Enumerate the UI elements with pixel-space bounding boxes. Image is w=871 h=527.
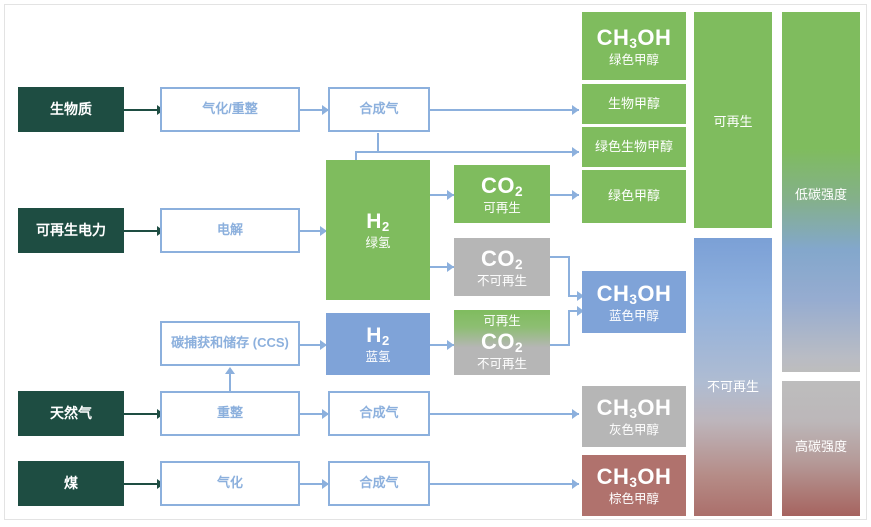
- co2-renewable-sublabel: 可再生: [483, 201, 521, 215]
- legend-high-carbon-bar: 高碳强度: [782, 381, 860, 516]
- legend-renewable-bar: 可再生: [694, 12, 772, 228]
- co2-renewable-block[interactable]: CO2 可再生: [454, 165, 550, 223]
- legend-non-renewable-label: 不可再生: [694, 376, 772, 395]
- syngas-natural-gas[interactable]: 合成气: [328, 391, 430, 436]
- legend-high-carbon-label: 高碳强度: [782, 436, 860, 455]
- connector-power-to-electrolysis: [124, 230, 160, 232]
- blue-methanol-formula: CH3OH: [597, 281, 672, 308]
- green-methanol-top-block[interactable]: CH3OH 绿色甲醇: [582, 12, 686, 80]
- connector-reforming-to-ccs: [229, 372, 231, 392]
- legend-renewable-label: 可再生: [713, 111, 752, 130]
- process-reforming[interactable]: 重整: [160, 391, 300, 436]
- gray-methanol-sublabel: 灰色甲醇: [609, 423, 659, 437]
- legend-low-carbon-label: 低碳强度: [782, 184, 860, 203]
- process-ccs-label: 碳捕获和储存 (CCS): [171, 336, 289, 351]
- brown-methanol-sublabel: 棕色甲醇: [609, 492, 659, 506]
- process-gasification-label: 气化: [217, 476, 243, 491]
- diagram-canvas: 生物质 可再生电力 天然气 煤 气化/重整 电解 碳捕获和储存 (CCS) 重整…: [0, 0, 871, 527]
- green-hydrogen-sublabel: 绿氢: [365, 236, 390, 250]
- arrowhead-co2-nonrenewable: [447, 262, 454, 272]
- co2-mixed-formula: CO2: [481, 329, 523, 356]
- green-methanol-block[interactable]: 绿色甲醇: [582, 170, 686, 223]
- syngas-coal-label: 合成气: [359, 476, 398, 491]
- feedstock-natural-gas-label: 天然气: [50, 405, 92, 421]
- bio-methanol-label: 生物甲醇: [608, 97, 660, 112]
- brown-methanol-formula: CH3OH: [597, 464, 672, 491]
- connector-co2-nonrenew-down: [568, 256, 570, 297]
- legend-non-renewable-bar: 不可再生: [694, 238, 772, 516]
- connector-syngas-to-bio-methanol: [430, 109, 579, 111]
- green-hydrogen-formula: H2: [366, 210, 389, 235]
- syngas-natural-gas-label: 合成气: [359, 406, 398, 421]
- co2-nonrenewable-sublabel: 不可再生: [477, 274, 527, 288]
- blue-methanol-block[interactable]: CH3OH 蓝色甲醇: [582, 271, 686, 333]
- syngas-coal[interactable]: 合成气: [328, 461, 430, 506]
- green-methanol-top-formula: CH3OH: [597, 25, 672, 52]
- arrowhead-ccs-up: [225, 367, 235, 374]
- co2-mixed-sublabel: 不可再生: [477, 357, 527, 371]
- green-methanol-label: 绿色甲醇: [608, 189, 660, 204]
- connector-co2-mixed-up: [568, 310, 570, 346]
- arrowhead-co2-renewable: [447, 190, 454, 200]
- arrowhead-brown-methanol: [572, 479, 579, 489]
- connector-syngas-to-gray-methanol: [430, 413, 579, 415]
- feedstock-renewable-power-label: 可再生电力: [36, 222, 106, 238]
- blue-methanol-sublabel: 蓝色甲醇: [609, 309, 659, 323]
- connector-gas-to-reforming: [124, 413, 160, 415]
- arrowhead-co2-mixed: [447, 340, 454, 350]
- connector-syngas-down: [377, 133, 379, 152]
- arrowhead-bio-methanol: [572, 105, 579, 115]
- green-hydrogen-block[interactable]: H2 绿氢: [326, 160, 430, 300]
- brown-methanol-block[interactable]: CH3OH 棕色甲醇: [582, 455, 686, 516]
- connector-junction-to-green-bio-methanol: [355, 151, 579, 153]
- feedstock-natural-gas[interactable]: 天然气: [18, 391, 124, 436]
- co2-nonrenewable-formula: CO2: [481, 246, 523, 273]
- co2-mixed-toplabel: 可再生: [483, 314, 521, 328]
- arrowhead-green-bio-methanol: [572, 147, 579, 157]
- arrowhead-gray-methanol: [572, 409, 579, 419]
- process-ccs[interactable]: 碳捕获和储存 (CCS): [160, 321, 300, 366]
- blue-hydrogen-block[interactable]: H2 蓝氢: [326, 313, 430, 375]
- green-bio-methanol-label: 绿色生物甲醇: [595, 140, 673, 155]
- gray-methanol-formula: CH3OH: [597, 395, 672, 422]
- connector-biomass-to-gasification: [124, 109, 160, 111]
- co2-mixed-block[interactable]: 可再生 CO2 不可再生: [454, 310, 550, 375]
- process-gasification-reforming-label: 气化/重整: [202, 102, 258, 117]
- gray-methanol-block[interactable]: CH3OH 灰色甲醇: [582, 386, 686, 447]
- feedstock-coal[interactable]: 煤: [18, 461, 124, 506]
- connector-coal-to-gasification: [124, 483, 160, 485]
- process-gasification[interactable]: 气化: [160, 461, 300, 506]
- green-bio-methanol-block[interactable]: 绿色生物甲醇: [582, 127, 686, 167]
- green-methanol-top-sublabel: 绿色甲醇: [609, 53, 659, 67]
- blue-hydrogen-sublabel: 蓝氢: [365, 350, 390, 364]
- feedstock-biomass-label: 生物质: [50, 101, 92, 117]
- process-electrolysis[interactable]: 电解: [160, 208, 300, 253]
- syngas-biomass[interactable]: 合成气: [328, 87, 430, 132]
- syngas-biomass-label: 合成气: [359, 102, 398, 117]
- connector-co2-mixed-out: [550, 344, 570, 346]
- blue-hydrogen-formula: H2: [366, 324, 389, 349]
- connector-syngas-to-brown-methanol: [430, 483, 579, 485]
- feedstock-renewable-power[interactable]: 可再生电力: [18, 208, 124, 253]
- co2-nonrenewable-block[interactable]: CO2 不可再生: [454, 238, 550, 296]
- connector-co2-nonrenew-out: [550, 256, 570, 258]
- process-electrolysis-label: 电解: [217, 223, 243, 238]
- process-gasification-reforming[interactable]: 气化/重整: [160, 87, 300, 132]
- feedstock-coal-label: 煤: [64, 475, 78, 491]
- co2-renewable-formula: CO2: [481, 173, 523, 200]
- legend-low-carbon-bar: 低碳强度: [782, 12, 860, 372]
- feedstock-biomass[interactable]: 生物质: [18, 87, 124, 132]
- process-reforming-label: 重整: [217, 406, 243, 421]
- bio-methanol-block[interactable]: 生物甲醇: [582, 84, 686, 124]
- arrowhead-green-methanol: [572, 190, 579, 200]
